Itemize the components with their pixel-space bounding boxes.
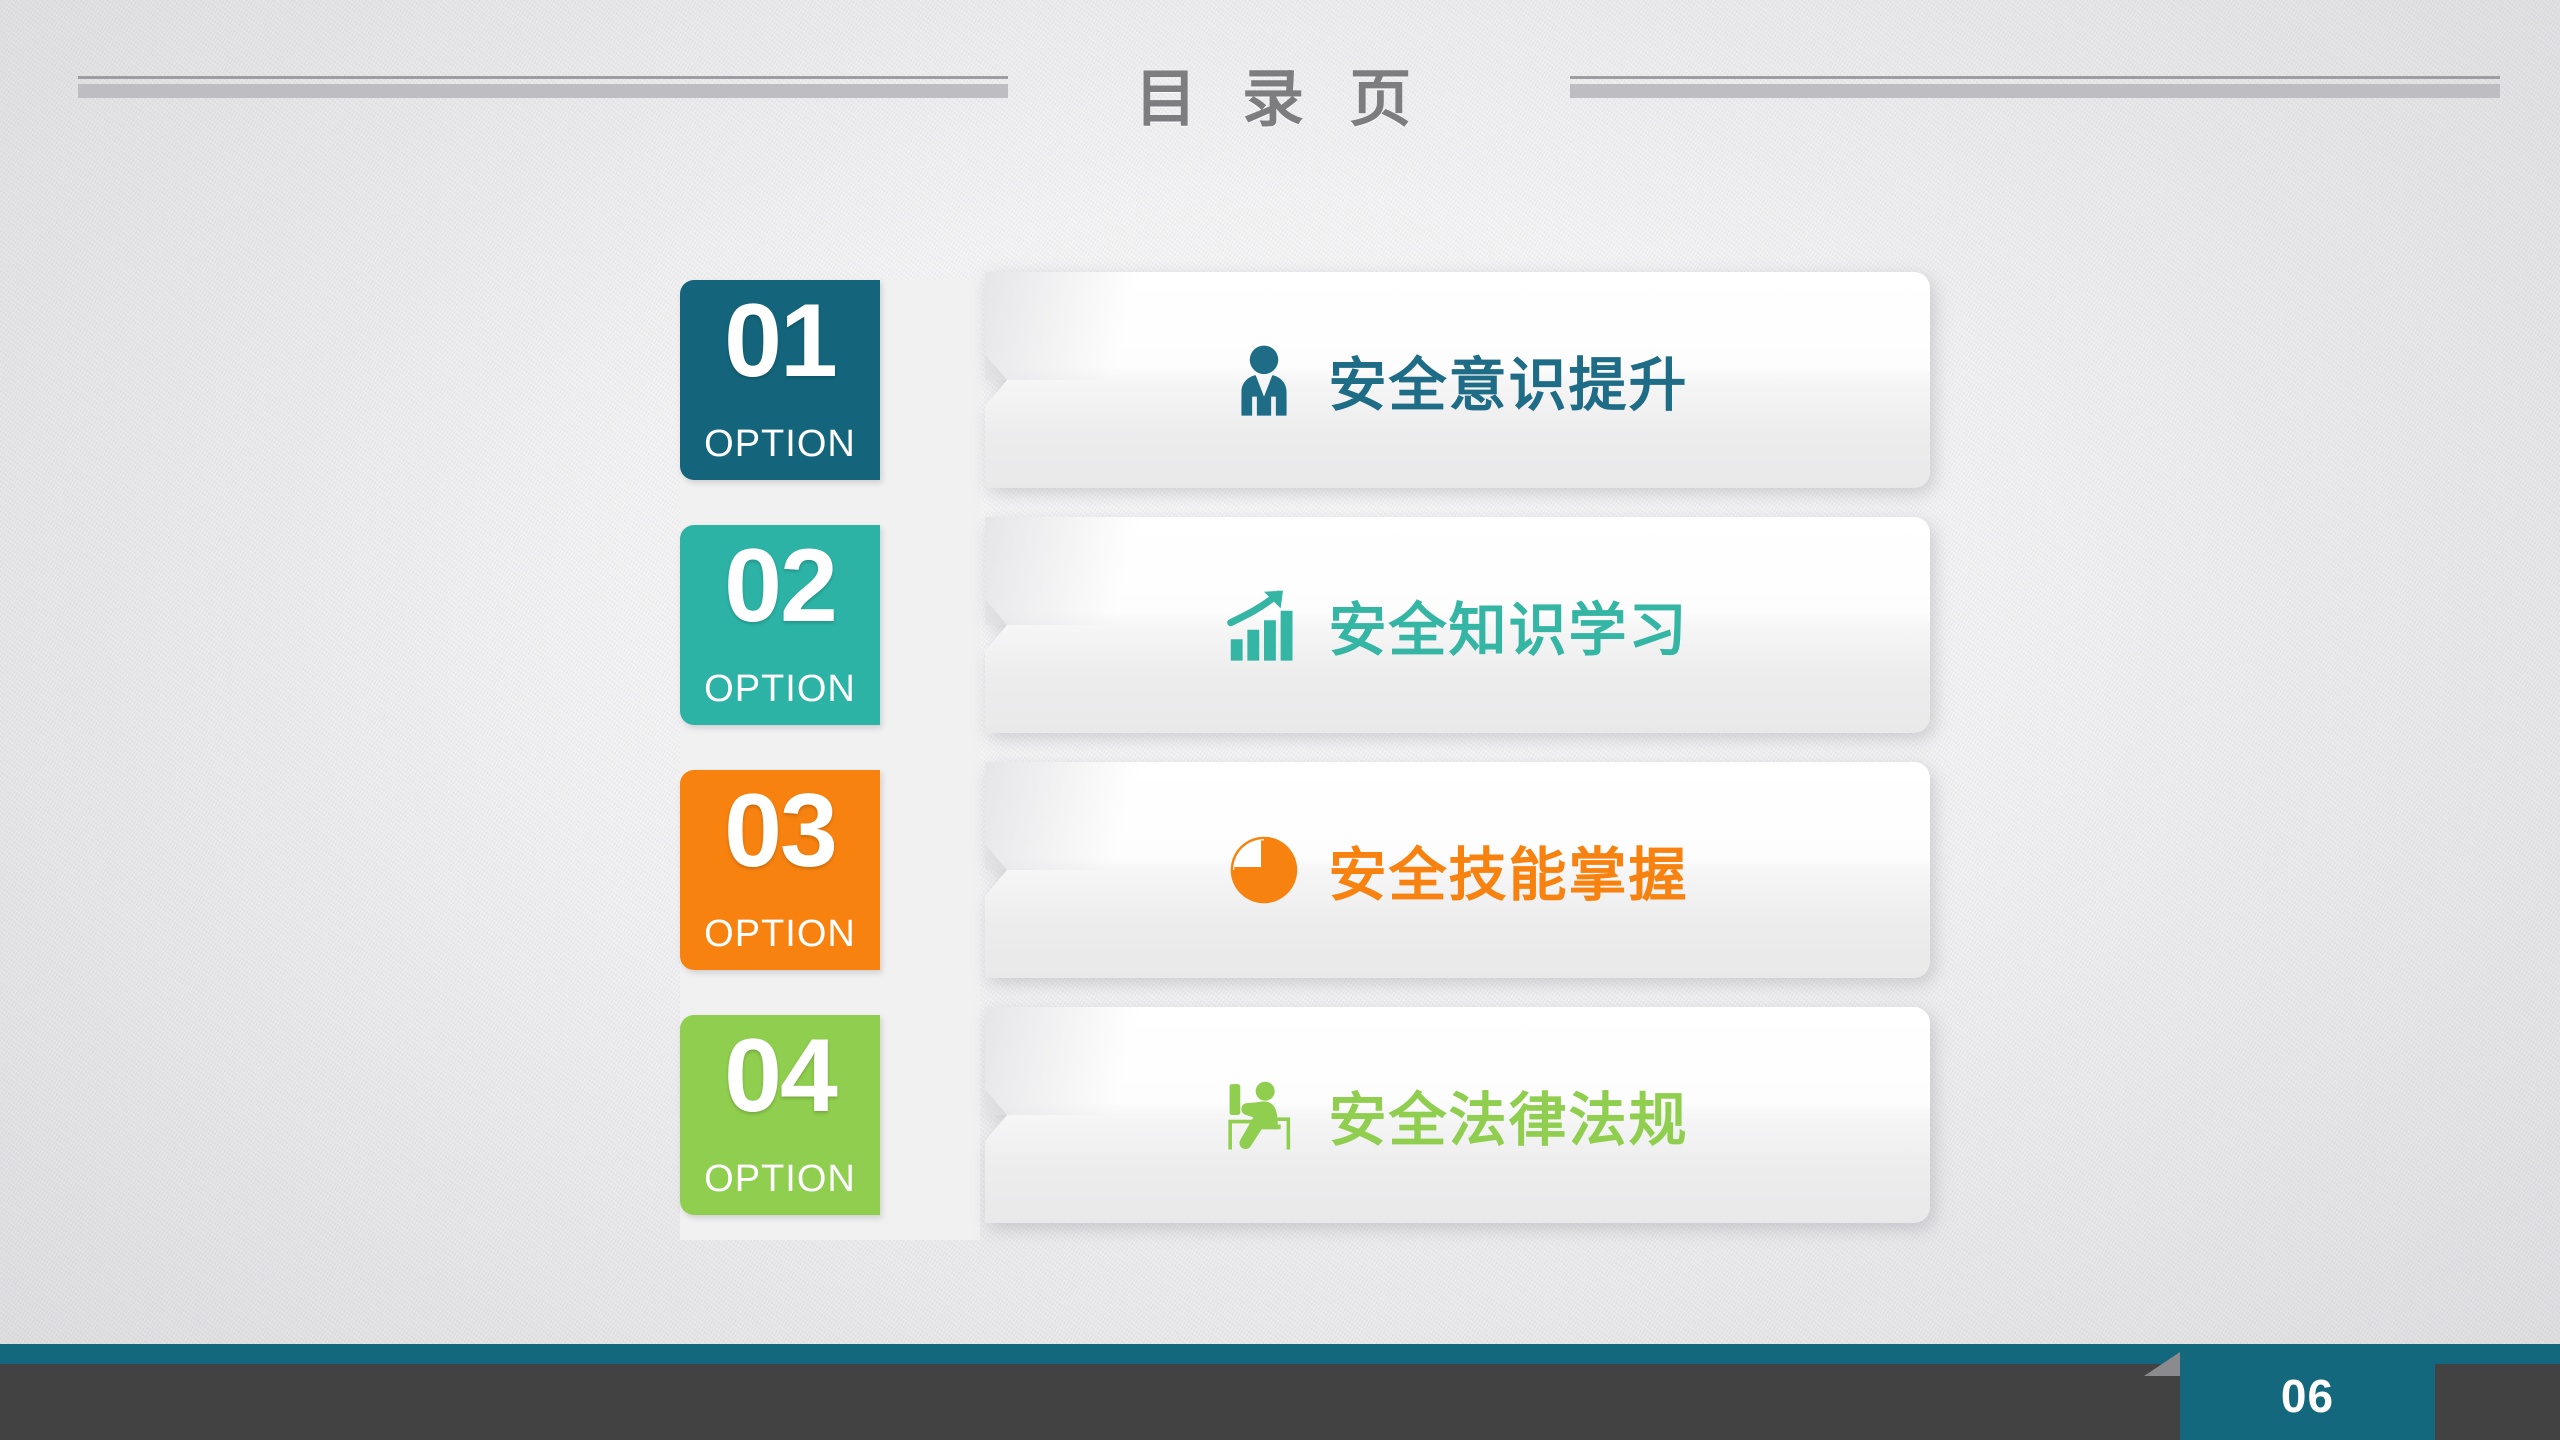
option-text-01: 安全意识提升 bbox=[1328, 338, 1688, 422]
agenda-item-01[interactable]: 01 OPTION 安全意识提升 bbox=[680, 280, 1930, 480]
option-badge-04[interactable]: 04 OPTION bbox=[680, 1015, 880, 1215]
option-plaque-02[interactable]: 安全知识学习 bbox=[985, 517, 1930, 733]
agenda-item-02[interactable]: 02 OPTION bbox=[680, 525, 1930, 725]
person-at-desk-icon bbox=[1226, 1077, 1302, 1153]
option-text-02: 安全知识学习 bbox=[1328, 583, 1688, 667]
option-label-04: OPTION bbox=[680, 1158, 880, 1201]
header-rule-right bbox=[1570, 76, 2500, 98]
option-plaque-01[interactable]: 安全意识提升 bbox=[985, 272, 1930, 488]
option-label-02: OPTION bbox=[680, 668, 880, 711]
option-label-03: OPTION bbox=[680, 913, 880, 956]
option-number-01: 01 bbox=[680, 284, 880, 398]
option-text-03: 安全技能掌握 bbox=[1328, 828, 1688, 912]
option-plaque-04[interactable]: 安全法律法规 bbox=[985, 1007, 1930, 1223]
option-plaque-03[interactable]: 安全技能掌握 bbox=[985, 762, 1930, 978]
agenda-item-04[interactable]: 04 OPTION bbox=[680, 1015, 1930, 1215]
businessman-icon bbox=[1226, 342, 1302, 418]
pie-chart-icon bbox=[1226, 832, 1302, 908]
option-number-04: 04 bbox=[680, 1019, 880, 1133]
option-number-03: 03 bbox=[680, 774, 880, 888]
header-rule-right-thin bbox=[1570, 76, 2500, 79]
option-badge-03[interactable]: 03 OPTION bbox=[680, 770, 880, 970]
agenda-list: 01 OPTION 安全意识提升 bbox=[680, 280, 1930, 1240]
slide-header: 目 录 页 bbox=[0, 0, 2560, 190]
option-badge-01[interactable]: 01 OPTION bbox=[680, 280, 880, 480]
option-text-04: 安全法律法规 bbox=[1328, 1073, 1688, 1157]
slide-canvas: 目 录 页 01 OPTION bbox=[0, 0, 2560, 1440]
option-label-01: OPTION bbox=[680, 423, 880, 466]
option-number-02: 02 bbox=[680, 529, 880, 643]
agenda-item-03[interactable]: 03 OPTION 安全技能掌握 bbox=[680, 770, 1930, 970]
page-number: 06 bbox=[2180, 1352, 2435, 1440]
header-rule-right-thick bbox=[1570, 84, 2500, 98]
option-badge-02[interactable]: 02 OPTION bbox=[680, 525, 880, 725]
bar-chart-growth-icon bbox=[1226, 587, 1302, 663]
